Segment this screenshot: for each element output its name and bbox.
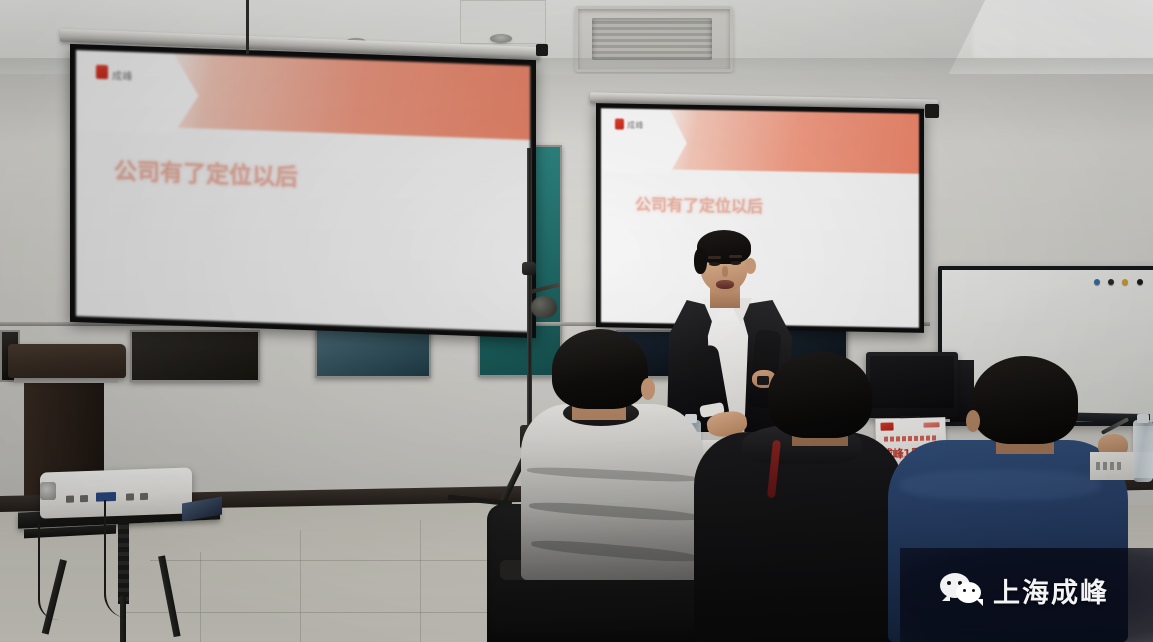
projection-screen-right: 成峰 公司有了定位以后 — [596, 103, 924, 333]
podium — [8, 344, 126, 378]
slide-logo-icon — [96, 65, 108, 79]
power-cable — [38, 524, 58, 620]
seminar-room-photo: 成峰 公司有了定位以后 成峰 公司有了定位以后 — [0, 0, 1153, 642]
magnet-icon — [1137, 279, 1143, 285]
downlight-icon — [490, 34, 512, 43]
slide-logo-text: 成峰 — [112, 67, 133, 83]
magnet-icon — [1108, 279, 1114, 285]
projection-screen-left: 成峰 公司有了定位以后 — [70, 44, 536, 338]
slide-heading-left: 公司有了定位以后 — [114, 151, 298, 191]
wechat-eye-dot — [963, 589, 966, 592]
floor-tile-line — [150, 560, 510, 561]
slide-logo-text: 成峰 — [627, 120, 644, 131]
floor-tile-line — [300, 530, 301, 642]
wall-frame — [130, 330, 260, 382]
placard-subtitle-bar — [884, 435, 938, 441]
attendee-3-head — [972, 356, 1078, 444]
ceiling-cable — [246, 0, 249, 54]
power-cable — [104, 500, 128, 618]
placard-logo-icon — [880, 422, 893, 430]
screen-mount — [536, 44, 548, 56]
attendee-3-highlight — [900, 470, 1100, 500]
tripod-knob — [522, 262, 536, 275]
slide-chevron — [601, 108, 687, 174]
wall-frame — [315, 328, 431, 378]
presenter-eyebrow — [729, 255, 742, 258]
presenter-mouth — [716, 280, 734, 289]
attendee-2-head — [768, 352, 872, 438]
water-bottle — [1133, 420, 1153, 482]
floor-tile-line — [200, 552, 201, 642]
bottle-cap — [1137, 414, 1149, 423]
presenter-eyebrow — [708, 256, 721, 259]
attendee-1-ear — [641, 378, 655, 400]
magnet-icon — [1094, 279, 1100, 285]
watermark-text: 上海成峰 — [993, 571, 1109, 610]
slide-left: 成峰 公司有了定位以后 — [76, 50, 530, 332]
presenter-eye — [730, 261, 741, 265]
placard-logo-icon — [923, 422, 939, 427]
slide-logo-icon — [615, 118, 624, 129]
slide-right: 成峰 公司有了定位以后 — [601, 108, 919, 328]
attendee-3-ear — [966, 410, 980, 432]
presenter-hair — [694, 248, 707, 274]
presentation-clicker-icon — [757, 376, 769, 385]
presenter-nose — [722, 266, 728, 277]
floor-tile-line — [120, 612, 520, 613]
microphone-icon — [531, 296, 557, 318]
wechat-eye-dot — [972, 589, 975, 592]
presenter-ear — [745, 258, 756, 274]
tissue-box-label — [1096, 462, 1124, 470]
wechat-bubble-tail — [976, 599, 983, 606]
magnet-icon — [1122, 279, 1128, 285]
wechat-icon — [940, 573, 984, 607]
screen-mount — [925, 104, 939, 118]
ceiling-light-glow — [973, 0, 1153, 58]
watermark: 上海成峰 — [940, 566, 1109, 614]
attendee-1-head — [552, 329, 648, 409]
projector-lens — [40, 482, 56, 500]
monitor-screen — [870, 356, 954, 408]
wechat-eye-dot — [947, 581, 951, 585]
floor-tile-line — [420, 520, 421, 642]
ac-grille — [592, 18, 712, 60]
presenter-eye — [709, 262, 720, 266]
slide-heading-right: 公司有了定位以后 — [635, 191, 763, 217]
